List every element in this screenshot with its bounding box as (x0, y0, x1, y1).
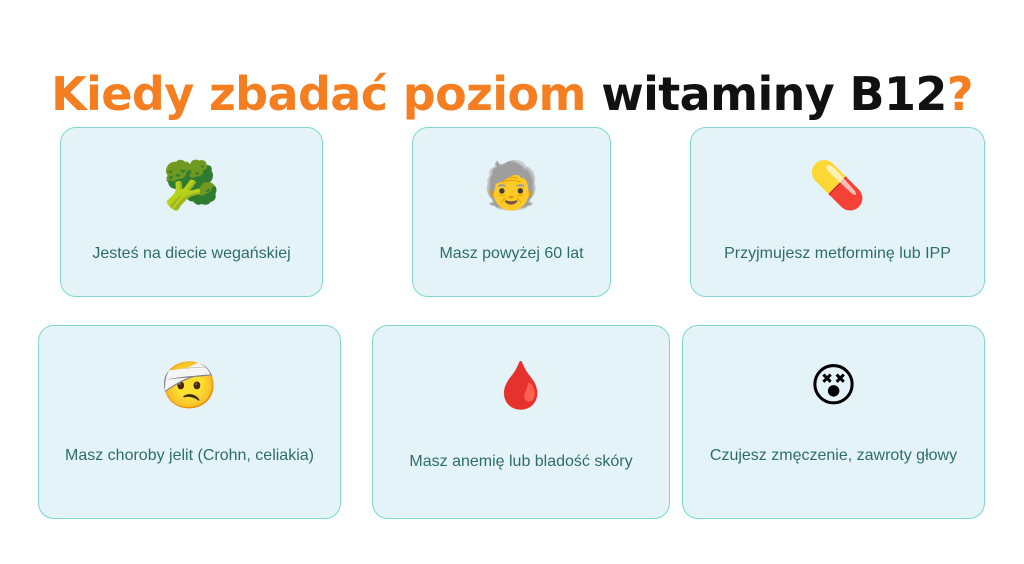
card-label-metformin-ppi: Przyjmujesz metforminę lub IPP (691, 242, 984, 265)
head-bandage-face-icon: 🤕 (161, 362, 218, 408)
blood-drop-icon: 🩸 (492, 362, 549, 408)
card-bowel-disease: 🤕 Masz choroby jelit (Crohn, celiakia) (38, 325, 341, 519)
card-label-fatigue-dizziness: Czujesz zmęczenie, zawroty głowy (683, 444, 984, 467)
page-title-dark: witaminy B12 (601, 67, 947, 121)
card-label-bowel-disease: Masz choroby jelit (Crohn, celiakia) (39, 444, 340, 467)
card-vegan-diet: 🥦 Jesteś na diecie wegańskiej (60, 127, 323, 297)
card-label-over-60: Masz powyżej 60 lat (413, 242, 610, 265)
infographic-page: Kiedy zbadać poziom witaminy B12? 🥦 Jest… (0, 0, 1024, 564)
card-metformin-ppi: 💊 Przyjmujesz metforminę lub IPP (690, 127, 985, 297)
page-title-accent: Kiedy zbadać poziom (51, 67, 601, 121)
broccoli-icon: 🥦 (163, 162, 220, 208)
card-fatigue-dizziness: 😵 Czujesz zmęczenie, zawroty głowy (682, 325, 985, 519)
card-label-vegan-diet: Jesteś na diecie wegańskiej (61, 242, 322, 265)
card-over-60: 🧓 Masz powyżej 60 lat (412, 127, 611, 297)
card-label-anemia-pale-skin: Masz anemię lub bladość skóry (373, 450, 669, 473)
page-title: Kiedy zbadać poziom witaminy B12? (0, 65, 1024, 123)
page-title-question-mark: ? (947, 67, 973, 121)
card-anemia-pale-skin: 🩸 Masz anemię lub bladość skóry (372, 325, 670, 519)
pill-icon: 💊 (809, 162, 866, 208)
older-person-icon: 🧓 (483, 162, 540, 208)
dizzy-face-icon: 😵 (810, 362, 858, 408)
